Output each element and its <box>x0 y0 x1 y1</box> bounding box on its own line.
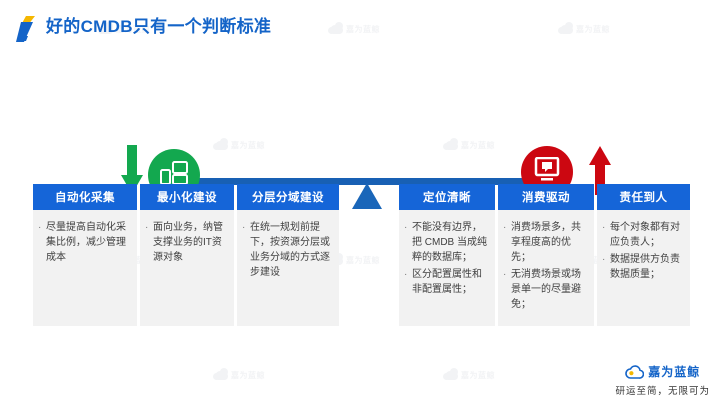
column-body: · 不能没有边界，把 CMDB 当成纯粹的数据库； · 区分配置属性和非配置属性… <box>399 210 495 326</box>
bullet-dot: · <box>404 267 412 297</box>
list-item: · 不能没有边界，把 CMDB 当成纯粹的数据库； <box>404 220 488 265</box>
cloud-watermark-icon <box>445 371 458 380</box>
column-header: 定位清晰 <box>399 184 495 210</box>
cloud-icon <box>625 365 644 378</box>
bullet-text: 消费场景多，共享程度高的优先； <box>511 220 587 265</box>
watermark-label: 嘉为蓝鲸 <box>461 370 495 381</box>
slide-header: 好的CMDB只有一个判断标准 <box>0 0 720 52</box>
bullet-dot: · <box>602 220 610 250</box>
column-body: · 尽量提高自动化采集比例，减少管理成本 <box>33 210 137 326</box>
criteria-column: 定位清晰 · 不能没有边界，把 CMDB 当成纯粹的数据库； · 区分配置属性和… <box>399 184 495 326</box>
watermark: 嘉为蓝鲸 <box>215 370 265 381</box>
bullet-dot: · <box>242 220 250 280</box>
bullet-dot: · <box>602 252 610 282</box>
column-header: 分层分域建设 <box>237 184 339 210</box>
list-item: · 区分配置属性和非配置属性； <box>404 267 488 297</box>
column-header: 自动化采集 <box>33 184 137 210</box>
footer-logo: 嘉为蓝鲸 <box>615 363 710 380</box>
list-item: · 每个对象都有对应负责人； <box>602 220 683 250</box>
footer-tagline: 研运至简，无限可为 <box>615 383 710 397</box>
footer-brand-name: 嘉为蓝鲸 <box>648 363 700 380</box>
footer-branding: 嘉为蓝鲸 研运至简，无限可为 <box>615 363 710 397</box>
column-body: · 每个对象都有对应负责人； · 数据提供方负责数据质量； <box>597 210 690 326</box>
benefit-criteria-panel: 定位清晰 · 不能没有边界，把 CMDB 当成纯粹的数据库； · 区分配置属性和… <box>399 184 690 326</box>
column-body: · 面向业务，纳管支撑业务的IT资源对象 <box>140 210 234 326</box>
criteria-column: 分层分域建设 · 在统一规划前提下，按资源分层或业务分域的方式逐步建设 <box>237 184 339 326</box>
bullet-text: 面向业务，纳管支撑业务的IT资源对象 <box>153 220 227 265</box>
bullet-dot: · <box>503 220 511 265</box>
bullet-dot: · <box>145 220 153 265</box>
bullet-text: 数据提供方负责数据质量； <box>610 252 683 282</box>
watermark-label: 嘉为蓝鲸 <box>346 255 380 266</box>
bullet-text: 区分配置属性和非配置属性； <box>412 267 488 297</box>
list-item: · 无消费场景或场景单一的尽量避免； <box>503 267 587 312</box>
column-header: 最小化建设 <box>140 184 234 210</box>
cloud-watermark-icon <box>215 371 228 380</box>
criteria-column: 责任到人 · 每个对象都有对应负责人； · 数据提供方负责数据质量； <box>597 184 690 326</box>
list-item: · 在统一规划前提下，按资源分层或业务分域的方式逐步建设 <box>242 220 332 280</box>
triangle-fulcrum-icon <box>352 183 382 209</box>
monitor-chat-icon <box>533 157 561 188</box>
criteria-column: 最小化建设 · 面向业务，纳管支撑业务的IT资源对象 <box>140 184 234 326</box>
bullet-dot: · <box>404 220 412 265</box>
balance-diagram: 成本 收益 <box>0 60 720 178</box>
list-item: · 消费场景多，共享程度高的优先； <box>503 220 587 265</box>
bullet-dot: · <box>503 267 511 312</box>
bullet-text: 尽量提高自动化采集比例，减少管理成本 <box>46 220 130 265</box>
column-body: · 在统一规划前提下，按资源分层或业务分域的方式逐步建设 <box>237 210 339 326</box>
bullet-text: 每个对象都有对应负责人； <box>610 220 683 250</box>
column-header: 责任到人 <box>597 184 690 210</box>
criteria-column: 消费驱动 · 消费场景多，共享程度高的优先； · 无消费场景或场景单一的尽量避免… <box>498 184 594 326</box>
list-item: · 尽量提高自动化采集比例，减少管理成本 <box>38 220 130 265</box>
list-item: · 数据提供方负责数据质量； <box>602 252 683 282</box>
cost-criteria-panel: 自动化采集 · 尽量提高自动化采集比例，减少管理成本 最小化建设 · 面向业务，… <box>33 184 339 326</box>
jiawei-logo-icon <box>14 16 36 42</box>
bullet-dot: · <box>38 220 46 265</box>
slide-root: 嘉为蓝鲸 嘉为蓝鲸 嘉为蓝鲸 嘉为蓝鲸 嘉为蓝鲸 嘉为蓝鲸 嘉为蓝鲸 嘉为蓝鲸 … <box>0 0 720 405</box>
column-header: 消费驱动 <box>498 184 594 210</box>
watermark-label: 嘉为蓝鲸 <box>231 370 265 381</box>
bullet-text: 无消费场景或场景单一的尽量避免； <box>511 267 587 312</box>
criteria-column: 自动化采集 · 尽量提高自动化采集比例，减少管理成本 <box>33 184 137 326</box>
watermark: 嘉为蓝鲸 <box>445 370 495 381</box>
bullet-text: 不能没有边界，把 CMDB 当成纯粹的数据库； <box>412 220 488 265</box>
page-title: 好的CMDB只有一个判断标准 <box>46 16 271 38</box>
bullet-text: 在统一规划前提下，按资源分层或业务分域的方式逐步建设 <box>250 220 332 280</box>
list-item: · 面向业务，纳管支撑业务的IT资源对象 <box>145 220 227 265</box>
column-body: · 消费场景多，共享程度高的优先； · 无消费场景或场景单一的尽量避免； <box>498 210 594 326</box>
